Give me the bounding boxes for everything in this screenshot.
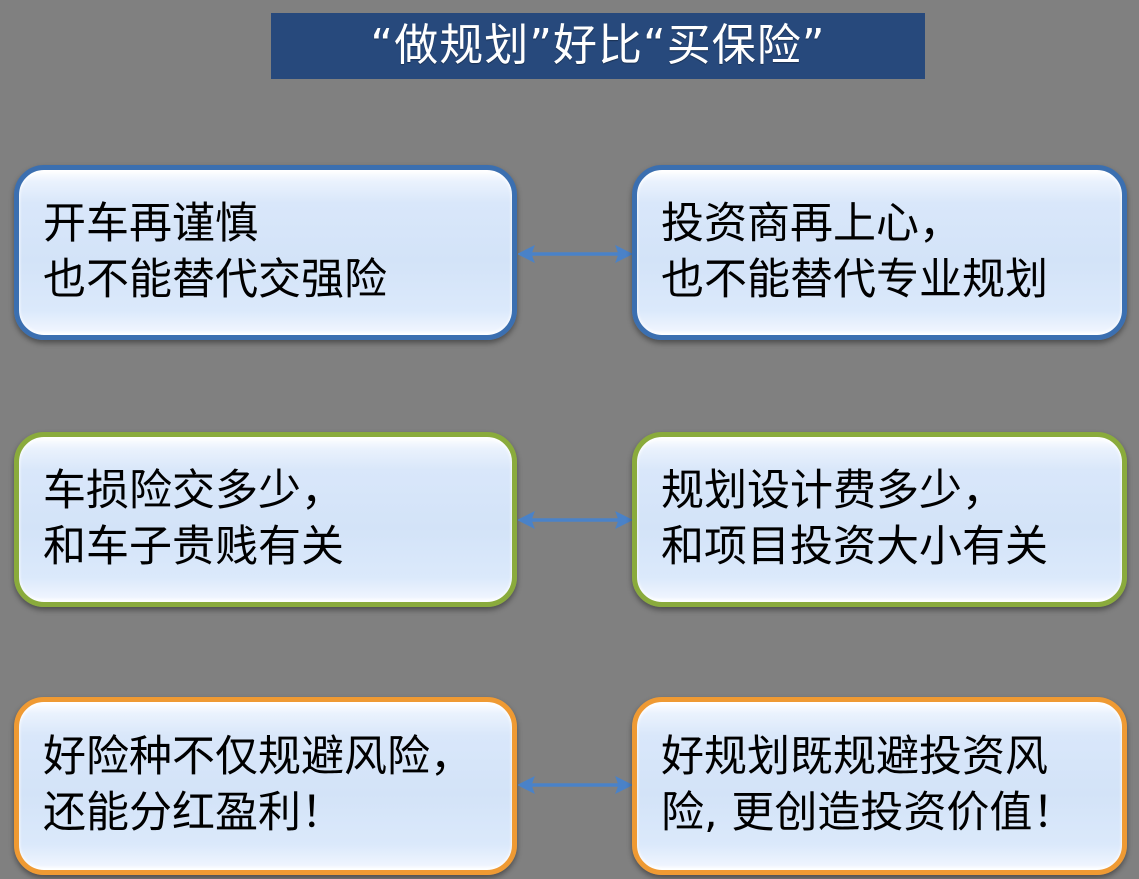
- callout-line-2: 险, 更创造投资价值！: [661, 786, 1122, 842]
- callout-box-row1-right[interactable]: 投资商再上心， 也不能替代专业规划: [632, 165, 1127, 340]
- callout-box-row2-left[interactable]: 车损险交多少， 和车子贵贱有关: [14, 432, 517, 607]
- slide-title-banner: “做规划”好比“买保险”: [271, 13, 925, 79]
- callout-box-row3-right[interactable]: 好规划既规避投资风 险, 更创造投资价值！: [632, 697, 1127, 875]
- callout-line-2: 和车子贵贱有关: [43, 520, 512, 576]
- callout-line-2: 和项目投资大小有关: [661, 520, 1122, 576]
- callout-line-1: 规划设计费多少，: [661, 464, 1122, 520]
- callout-line-2: 也不能替代交强险: [43, 253, 512, 309]
- slide-canvas: “做规划”好比“买保险” 开车再谨慎 也不能替代交强险 投资商再上心， 也不能替…: [0, 0, 1139, 879]
- callout-line-1: 车损险交多少，: [43, 464, 512, 520]
- callout-box-row3-left[interactable]: 好险种不仅规避风险， 还能分红盈利！: [14, 697, 517, 875]
- callout-line-1: 好规划既规避投资风: [661, 730, 1122, 786]
- callout-line-1: 好险种不仅规避风险，: [43, 730, 512, 786]
- callout-line-1: 投资商再上心，: [661, 197, 1122, 253]
- callout-line-2: 也不能替代专业规划: [661, 253, 1122, 309]
- page-title: “做规划”好比“买保险”: [370, 24, 825, 68]
- callout-box-row1-left[interactable]: 开车再谨慎 也不能替代交强险: [14, 165, 517, 340]
- double-headed-arrow-row2: [518, 507, 632, 533]
- double-headed-arrow-row3: [518, 772, 632, 798]
- callout-line-2: 还能分红盈利！: [43, 786, 512, 842]
- callout-line-1: 开车再谨慎: [43, 197, 512, 253]
- double-headed-arrow-row1: [518, 241, 632, 267]
- callout-box-row2-right[interactable]: 规划设计费多少， 和项目投资大小有关: [632, 432, 1127, 607]
